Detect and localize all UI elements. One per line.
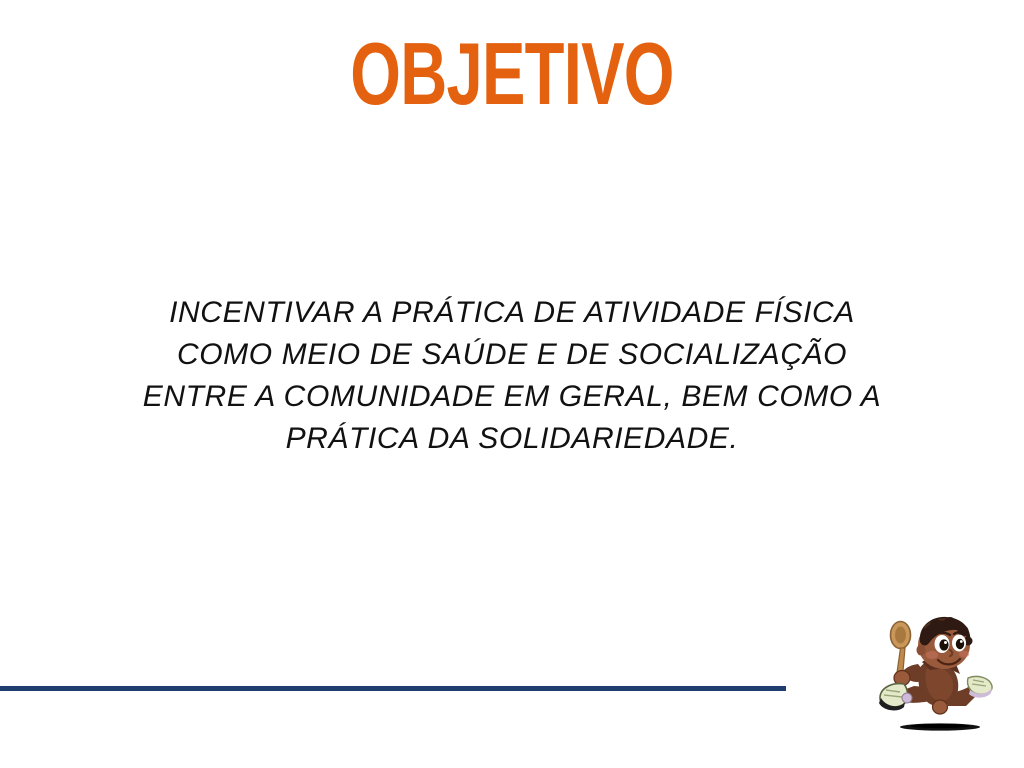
objective-body-text: INCENTIVAR A PRÁTICA DE ATIVIDADE FÍSICA… xyxy=(62,292,962,460)
slide-canvas: OBJETIVO INCENTIVAR A PRÁTICA DE ATIVIDA… xyxy=(0,0,1024,768)
page-title: OBJETIVO xyxy=(133,30,891,118)
running-boy-with-wooden-spoon-icon xyxy=(874,612,998,740)
bottom-divider-rule xyxy=(0,686,786,691)
